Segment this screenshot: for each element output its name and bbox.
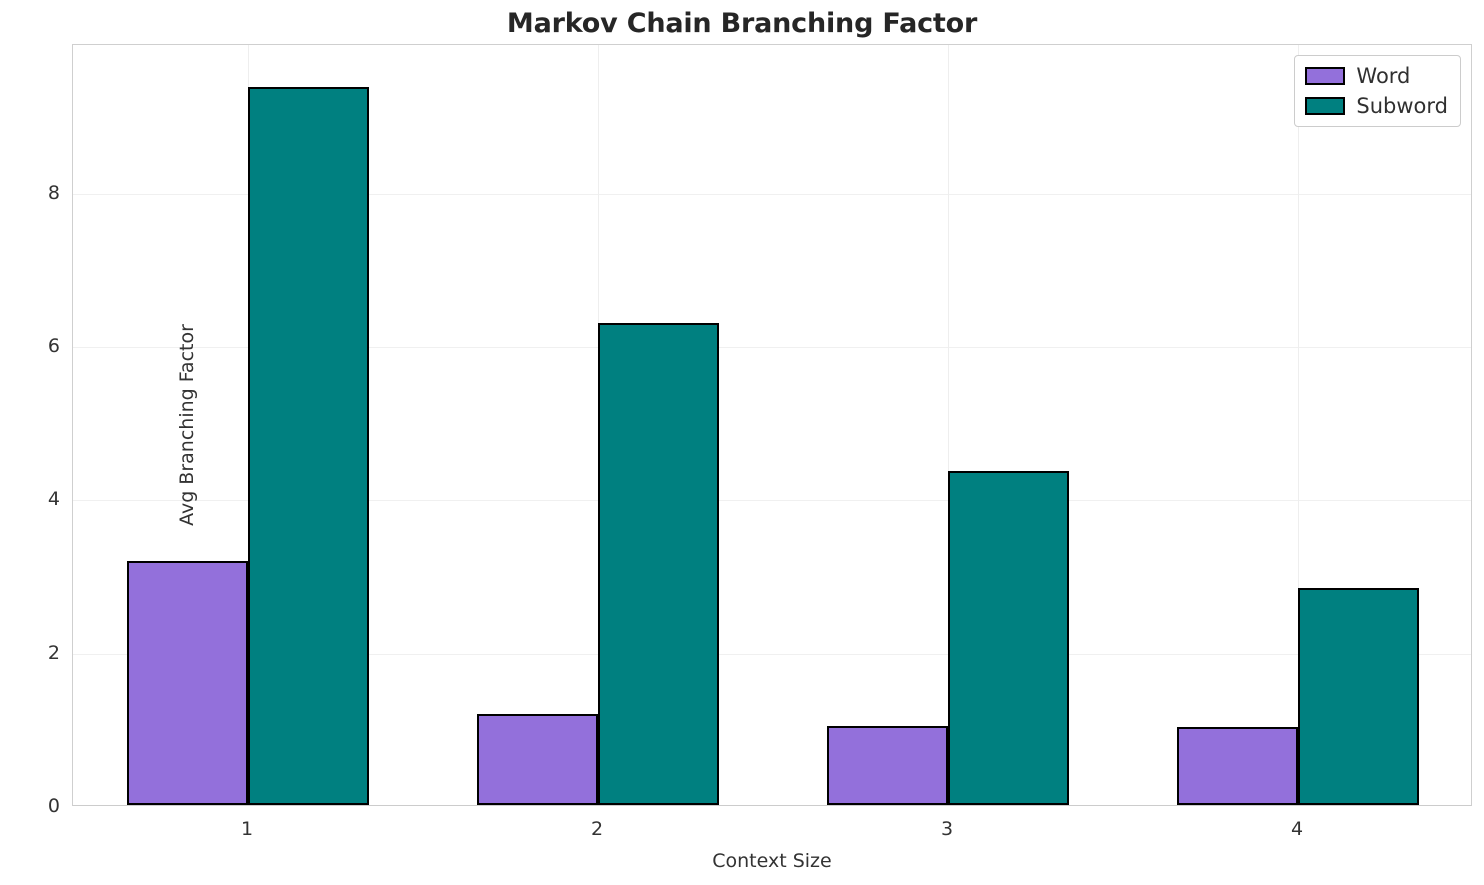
bar-subword-context-3 — [948, 471, 1069, 805]
y-tick-label-6: 6 — [0, 335, 72, 357]
legend-label-word: Word — [1356, 64, 1410, 88]
chart-legend[interactable]: WordSubword — [1294, 55, 1461, 127]
bar-subword-context-2 — [598, 323, 719, 805]
legend-swatch-icon-word — [1305, 67, 1345, 85]
chart-page: Markov Chain Branching Factor WordSubwor… — [0, 0, 1484, 885]
y-tick-label-2: 2 — [0, 642, 72, 664]
bar-subword-context-1 — [248, 87, 369, 805]
bar-subword-context-4 — [1298, 588, 1419, 805]
x-tick-label-4: 4 — [1291, 818, 1303, 840]
legend-item-word[interactable]: Word — [1305, 64, 1448, 88]
legend-label-subword: Subword — [1356, 94, 1448, 118]
x-axis-label: Context Size — [72, 850, 1472, 872]
bar-word-context-4 — [1177, 727, 1298, 805]
x-tick-label-3: 3 — [941, 818, 953, 840]
bar-word-context-2 — [477, 714, 598, 805]
x-tick-label-2: 2 — [591, 818, 603, 840]
legend-swatch-icon-subword — [1305, 97, 1345, 115]
y-tick-label-4: 4 — [0, 488, 72, 510]
x-tick-label-1: 1 — [241, 818, 253, 840]
bar-word-context-3 — [827, 726, 948, 805]
y-tick-label-0: 0 — [0, 795, 72, 817]
y-tick-label-8: 8 — [0, 182, 72, 204]
chart-title: Markov Chain Branching Factor — [0, 8, 1484, 39]
y-axis-label: Avg Branching Factor — [176, 225, 198, 625]
plot-area: WordSubword — [72, 44, 1472, 806]
legend-item-subword[interactable]: Subword — [1305, 94, 1448, 118]
